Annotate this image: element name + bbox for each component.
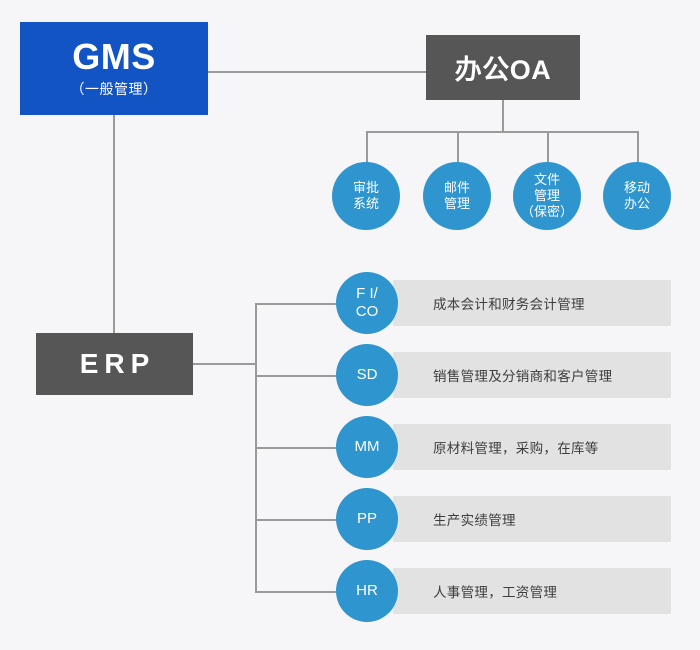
erp-module-bar-mm[interactable]: 原材料管理，采购，在库等 xyxy=(393,424,671,470)
connector-oa-bus xyxy=(366,131,639,133)
architecture-diagram: GMS （一般管理） 办公OA 审批系统邮件管理文件管理（保密）移动办公 ERP… xyxy=(0,0,700,650)
erp-module-bar-fi-co[interactable]: 成本会计和财务会计管理 xyxy=(393,280,671,326)
oa-child-label-line: 办公 xyxy=(624,196,650,212)
connector-erp-branch-2 xyxy=(255,375,345,377)
connector-erp-stem xyxy=(193,363,256,365)
oa-child-label-line: （保密） xyxy=(521,204,573,220)
connector-oa-drop-3 xyxy=(547,131,549,162)
erp-module-description: 销售管理及分销商和客户管理 xyxy=(433,365,612,385)
erp-module-code-line: SD xyxy=(357,366,378,384)
oa-title: 办公OA xyxy=(455,48,552,87)
oa-child-mail-management[interactable]: 邮件管理 xyxy=(423,162,491,230)
erp-module-code-line: F I/ xyxy=(356,285,378,303)
oa-child-label-line: 文件 xyxy=(534,172,560,188)
connector-gms-to-oa xyxy=(208,71,426,73)
erp-module-circle-mm[interactable]: MM xyxy=(336,416,398,478)
erp-module-bar-sd[interactable]: 销售管理及分销商和客户管理 xyxy=(393,352,671,398)
connector-erp-branch-3 xyxy=(255,447,345,449)
gms-node[interactable]: GMS （一般管理） xyxy=(20,22,208,115)
connector-oa-drop-4 xyxy=(637,131,639,162)
erp-module-description: 人事管理，工资管理 xyxy=(433,581,557,601)
erp-module-code-line: MM xyxy=(355,438,380,456)
oa-child-mobile-office[interactable]: 移动办公 xyxy=(603,162,671,230)
oa-child-label-line: 邮件 xyxy=(444,180,470,196)
connector-oa-drop-1 xyxy=(366,131,368,162)
erp-module-circle-pp[interactable]: PP xyxy=(336,488,398,550)
connector-oa-stem xyxy=(502,100,504,132)
connector-oa-drop-2 xyxy=(457,131,459,162)
oa-node[interactable]: 办公OA xyxy=(426,35,580,100)
erp-node[interactable]: ERP xyxy=(36,333,193,395)
erp-module-code-line: HR xyxy=(356,582,378,600)
oa-child-document-management[interactable]: 文件管理（保密） xyxy=(513,162,581,230)
connector-gms-to-erp xyxy=(113,115,115,333)
erp-module-circle-hr[interactable]: HR xyxy=(336,560,398,622)
connector-erp-branch-5 xyxy=(255,591,345,593)
erp-module-circle-sd[interactable]: SD xyxy=(336,344,398,406)
erp-module-code-line: PP xyxy=(357,510,377,528)
oa-child-approval-system[interactable]: 审批系统 xyxy=(332,162,400,230)
oa-child-label-line: 移动 xyxy=(624,180,650,196)
erp-module-bar-pp[interactable]: 生产实绩管理 xyxy=(393,496,671,542)
oa-child-label-line: 审批 xyxy=(353,180,379,196)
erp-module-description: 成本会计和财务会计管理 xyxy=(433,293,585,313)
connector-erp-branch-4 xyxy=(255,519,345,521)
erp-module-bar-hr[interactable]: 人事管理，工资管理 xyxy=(393,568,671,614)
gms-title: GMS xyxy=(72,38,156,76)
erp-module-code-line: CO xyxy=(356,303,379,321)
connector-erp-branch-1 xyxy=(255,303,345,305)
erp-title: ERP xyxy=(74,348,156,380)
erp-module-description: 生产实绩管理 xyxy=(433,509,516,529)
oa-child-label-line: 管理 xyxy=(444,196,470,212)
gms-subtitle: （一般管理） xyxy=(71,79,158,99)
oa-child-label-line: 系统 xyxy=(353,196,379,212)
erp-module-circle-fi-co[interactable]: F I/CO xyxy=(336,272,398,334)
erp-module-description: 原材料管理，采购，在库等 xyxy=(433,437,599,457)
oa-child-label-line: 管理 xyxy=(534,188,560,204)
